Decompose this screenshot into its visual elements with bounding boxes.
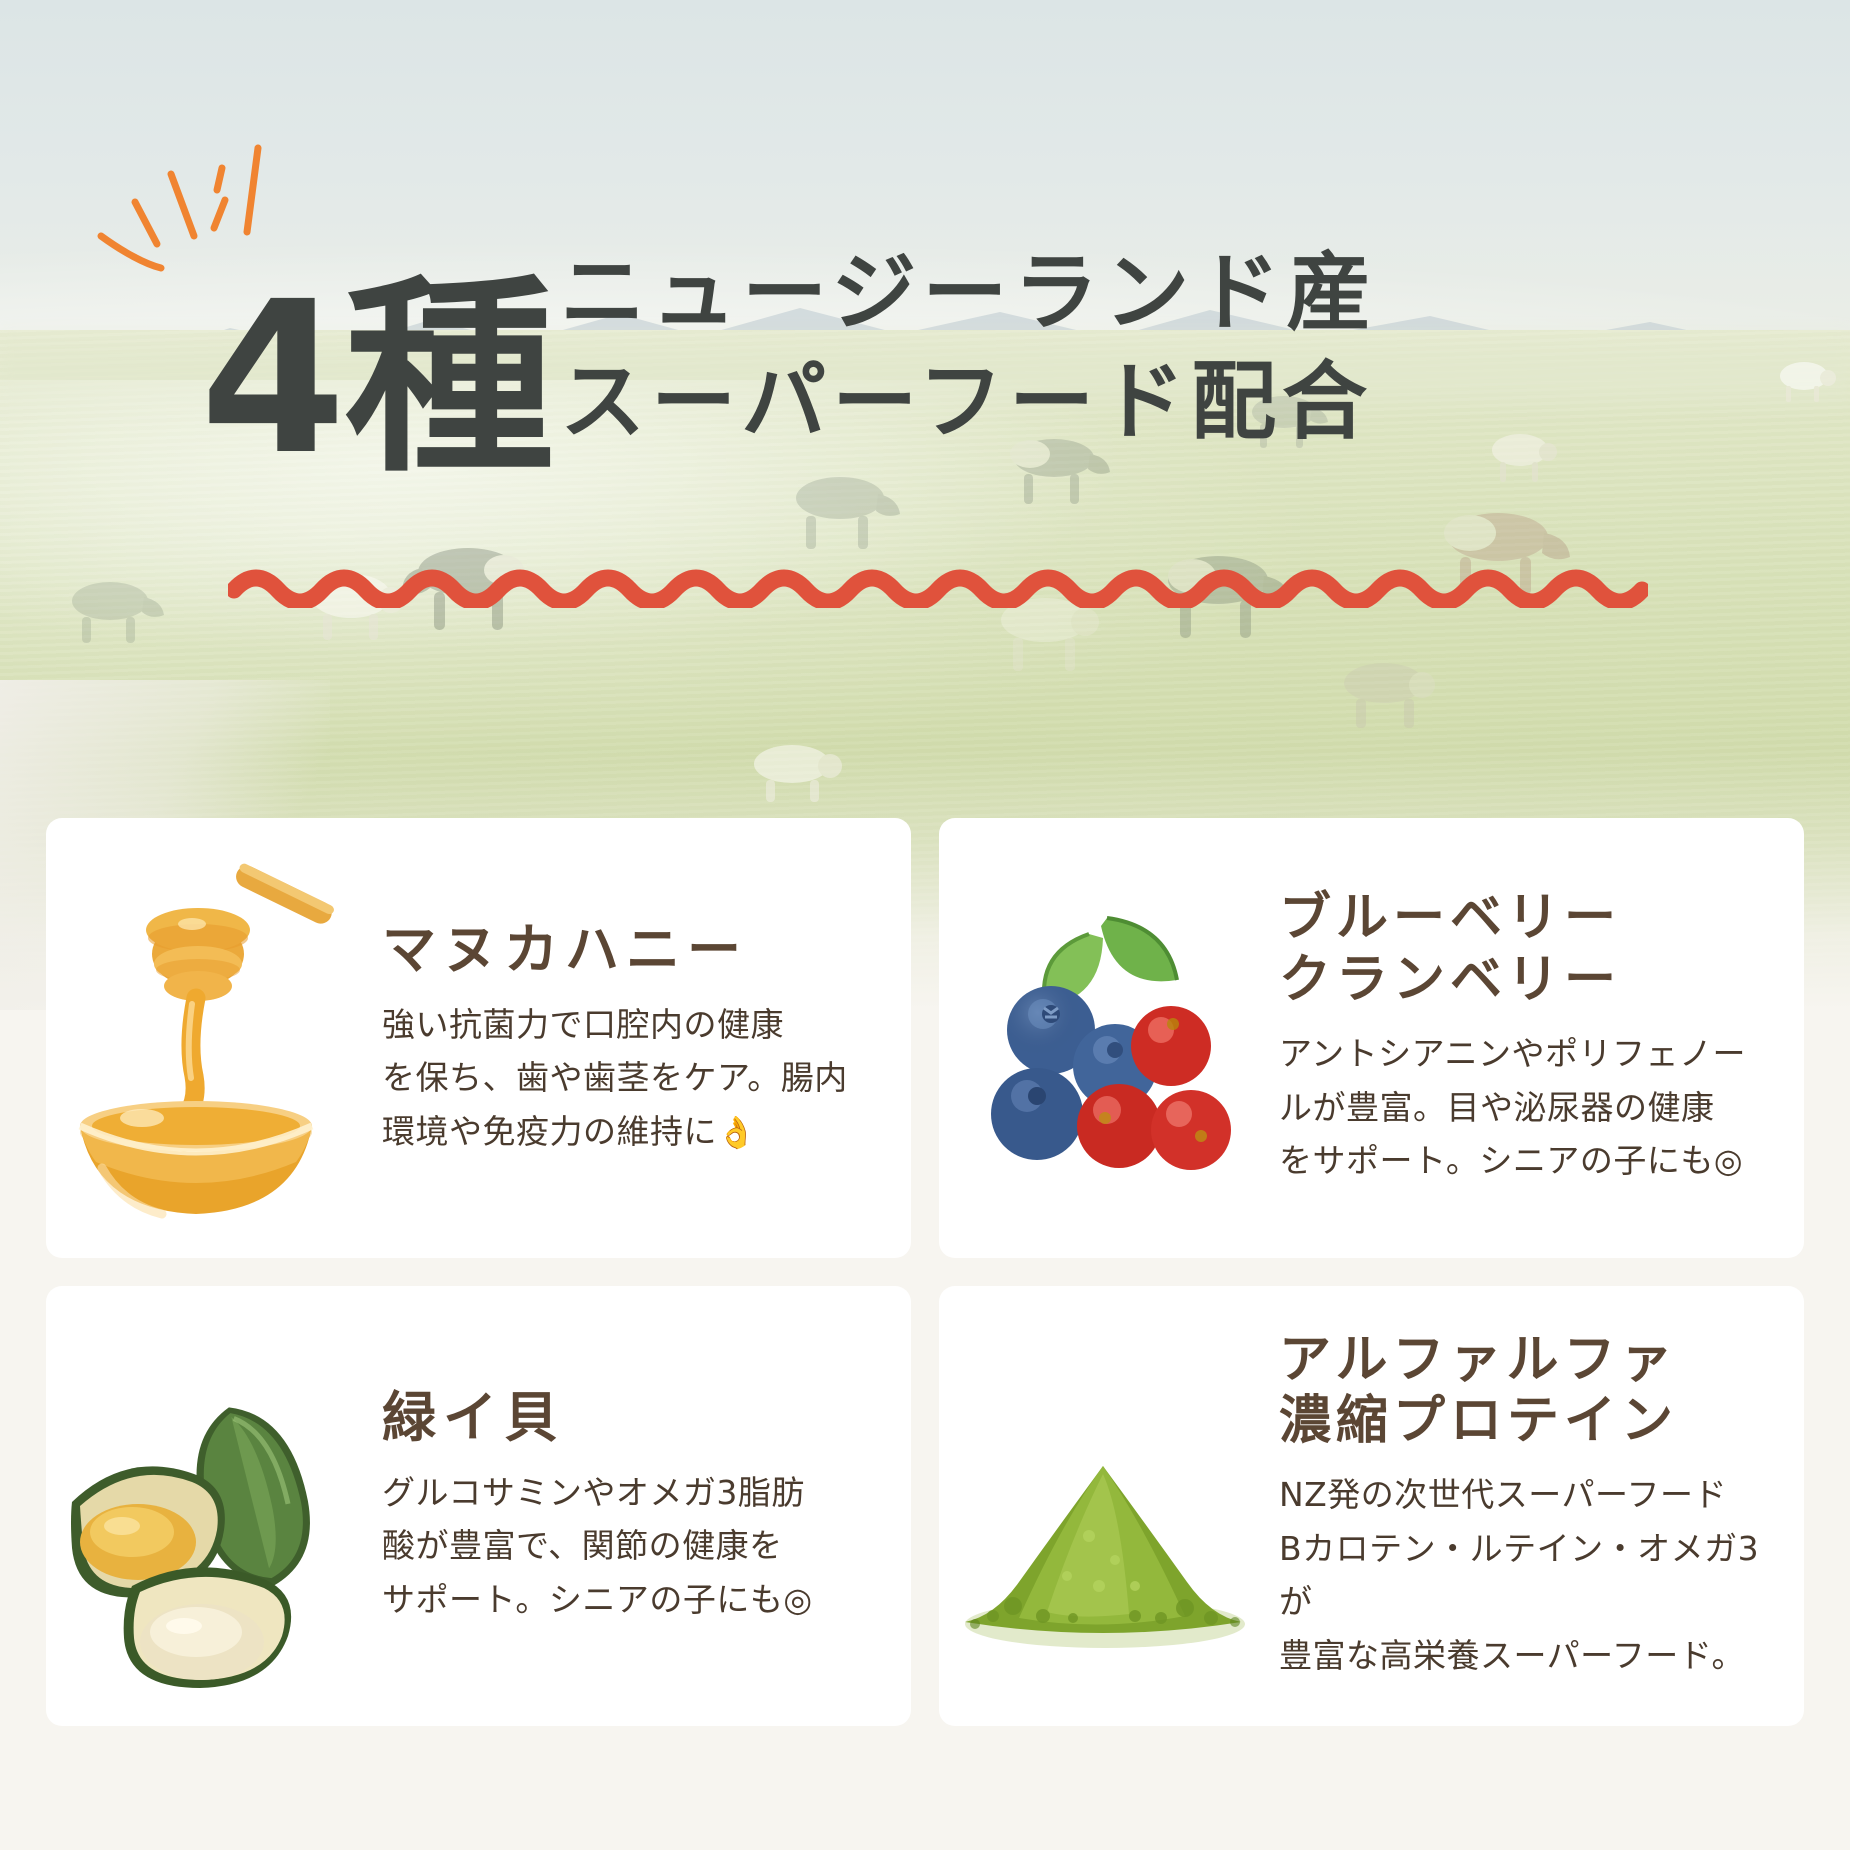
title-lines: ニュージーランド産 スーパーフード配合 — [560, 240, 1377, 476]
card-body: アルファルファ 濃縮プロテイン NZ発の次世代スーパーフード Bカロテン・ルテイ… — [1269, 1330, 1804, 1683]
card-title: ブルーベリー クランベリー — [1279, 888, 1774, 1011]
title-block: 4種 ニュージーランド産 スーパーフード配合 — [200, 240, 1700, 476]
card-title: マヌカハニー — [382, 918, 881, 982]
blueberry-cranberry-image — [939, 818, 1269, 1258]
cow-silhouette — [1330, 655, 1450, 729]
wavy-underline-icon — [228, 560, 1648, 608]
card-title: 緑イ貝 — [382, 1386, 881, 1450]
count-label: 4種 — [200, 282, 552, 475]
card-text: NZ発の次世代スーパーフード Bカロテン・ルテイン・オメガ3が 豊富な高栄養スー… — [1279, 1468, 1774, 1682]
title-line-1: ニュージーランド産 — [560, 240, 1377, 349]
honey-dipper-bowl-image — [46, 818, 376, 1258]
card-text: 強い抗菌力で口腔内の健康 を保ち、歯や歯茎をケア。腸内 環境や免疫力の維持に👌 — [382, 998, 881, 1158]
alfalfa-green-powder-image — [939, 1286, 1269, 1726]
card-body: ブルーベリー クランベリー アントシアニンやポリフェノー ルが豊富。目や泌尿器の… — [1269, 888, 1804, 1187]
card-body: マヌカハニー 強い抗菌力で口腔内の健康 を保ち、歯や歯茎をケア。腸内 環境や免疫… — [376, 918, 911, 1158]
title-line-2: スーパーフード配合 — [560, 349, 1377, 458]
card-manuka-honey[interactable]: マヌカハニー 強い抗菌力で口腔内の健康 を保ち、歯や歯茎をケア。腸内 環境や免疫… — [46, 818, 911, 1258]
card-text-body: 強い抗菌力で口腔内の健康 を保ち、歯や歯茎をケア。腸内 環境や免疫力の維持に — [382, 1005, 848, 1151]
card-green-lipped-mussel[interactable]: 緑イ貝 グルコサミンやオメガ3脂肪 酸が豊富で、関節の健康を サポート。シニアの… — [46, 1286, 911, 1726]
superfood-card-grid: マヌカハニー 強い抗菌力で口腔内の健康 を保ち、歯や歯茎をケア。腸内 環境や免疫… — [0, 818, 1850, 1726]
ok-hand-emoji: 👌 — [717, 1115, 756, 1151]
card-blueberry-cranberry[interactable]: ブルーベリー クランベリー アントシアニンやポリフェノー ルが豊富。目や泌尿器の… — [939, 818, 1804, 1258]
header: 4種 ニュージーランド産 スーパーフード配合 — [0, 0, 1850, 660]
green-lipped-mussel-image — [46, 1286, 376, 1726]
card-text: グルコサミンやオメガ3脂肪 酸が豊富で、関節の健康を サポート。シニアの子にも◎ — [382, 1466, 881, 1626]
card-alfalfa-protein[interactable]: アルファルファ 濃縮プロテイン NZ発の次世代スーパーフード Bカロテン・ルテイ… — [939, 1286, 1804, 1726]
card-text: アントシアニンやポリフェノー ルが豊富。目や泌尿器の健康 をサポート。シニアの子… — [1279, 1027, 1774, 1187]
card-body: 緑イ貝 グルコサミンやオメガ3脂肪 酸が豊富で、関節の健康を サポート。シニアの… — [376, 1386, 911, 1626]
card-title: アルファルファ 濃縮プロテイン — [1279, 1330, 1774, 1453]
